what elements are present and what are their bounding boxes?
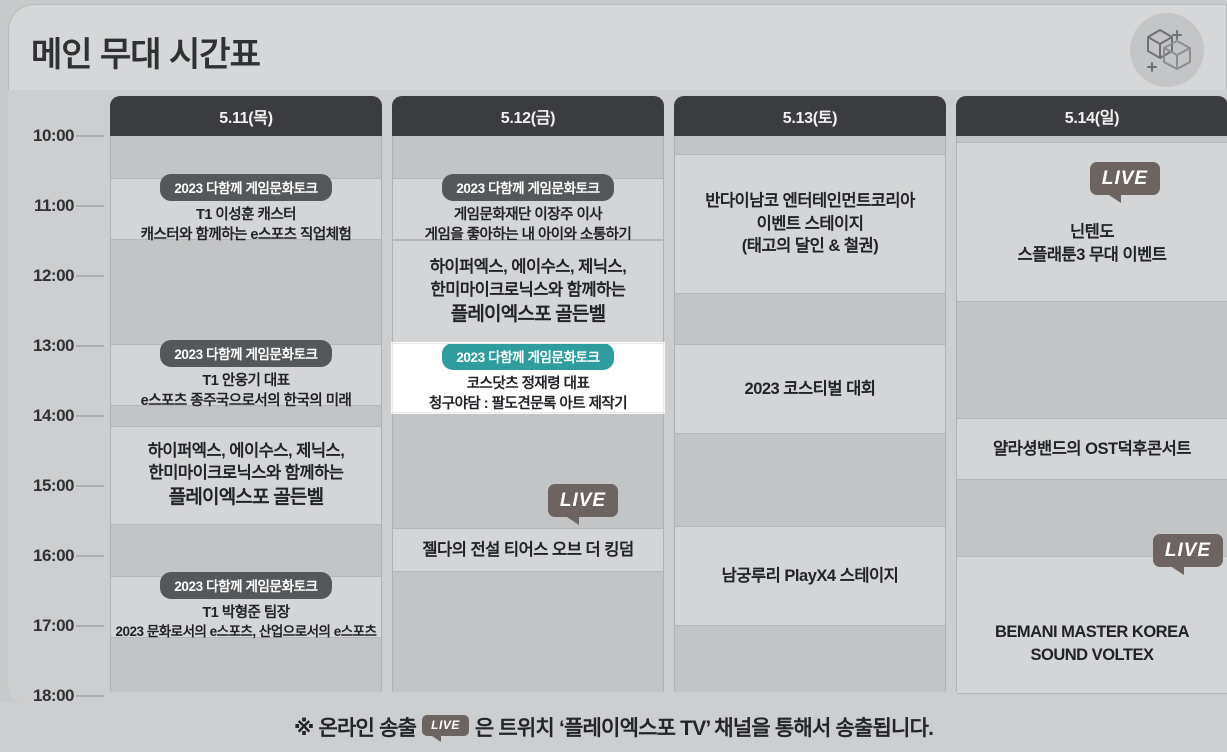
event-badge: 2023 다함께 게임문화토크 bbox=[160, 572, 331, 599]
day-column-1: 5.12(금) 2023 다함께 게임문화토크 게임문화재단 이장주 이사 게임… bbox=[392, 90, 664, 702]
title-card: 메인 무대 시간표 bbox=[8, 4, 1227, 90]
day-column-2: 5.13(토) 반다이남코 엔터테인먼트코리아 이벤트 스테이지 (태고의 달인… bbox=[674, 90, 946, 702]
event-line: 2023 코스티벌 대회 bbox=[745, 378, 876, 401]
day-column-0: 5.11(목) 2023 다함께 게임문화토크 T1 이성훈 캐스터 캐스터와 … bbox=[110, 90, 382, 702]
event-badge: 2023 다함께 게임문화토크 bbox=[442, 343, 613, 370]
time-label: 16:00 bbox=[33, 546, 74, 566]
event-line: 닌텐도 bbox=[1070, 221, 1114, 244]
event-line: 게임문화재단 이장주 이사 bbox=[454, 205, 602, 225]
event-block[interactable]: 2023 다함께 게임문화토크 게임문화재단 이장주 이사 게임을 좋아하는 내… bbox=[393, 178, 663, 240]
live-badge-label: LIVE bbox=[1153, 534, 1223, 567]
time-tick bbox=[76, 486, 104, 487]
time-label: 17:00 bbox=[33, 616, 74, 636]
schedule-page: 메인 무대 시간표 10:00 bbox=[0, 0, 1227, 752]
event-line: (태고의 달인 & 철권) bbox=[742, 235, 878, 258]
event-line: T1 안웅기 대표 bbox=[202, 371, 289, 391]
live-badge: LIVE bbox=[1090, 162, 1160, 202]
time-label: 13:00 bbox=[33, 336, 74, 356]
day-header-3[interactable]: 5.14(일) bbox=[956, 96, 1227, 136]
day-header-0[interactable]: 5.11(목) bbox=[110, 96, 382, 136]
time-tick bbox=[76, 206, 104, 207]
schedule-grid: 10:00 11:00 12:00 13:00 14:00 15:00 16:0… bbox=[8, 90, 1227, 702]
event-block[interactable]: 남궁루리 PlayX4 스테이지 bbox=[675, 526, 945, 626]
event-block[interactable]: 2023 다함께 게임문화토크 T1 이성훈 캐스터 캐스터와 함께하는 e스포… bbox=[111, 178, 381, 240]
event-line: 2023 문화로서의 e스포츠, 산업으로서의 e스포츠 bbox=[116, 623, 377, 642]
page-title: 메인 무대 시간표 bbox=[31, 27, 260, 76]
time-tick bbox=[76, 136, 104, 137]
event-line: T1 박형준 팀장 bbox=[202, 603, 289, 623]
time-tick bbox=[76, 346, 104, 347]
day-body-0: 2023 다함께 게임문화토크 T1 이성훈 캐스터 캐스터와 함께하는 e스포… bbox=[110, 136, 382, 692]
event-line: 젤다의 전설 티어스 오브 더 킹덤 bbox=[422, 539, 633, 562]
event-block[interactable]: 반다이남코 엔터테인먼트코리아 이벤트 스테이지 (태고의 달인 & 철권) bbox=[675, 154, 945, 294]
time-tick bbox=[76, 276, 104, 277]
event-line: 얄라셩밴드의 OST덕후콘서트 bbox=[993, 438, 1191, 461]
live-badge-label: LIVE bbox=[548, 484, 618, 517]
event-block[interactable]: 얄라셩밴드의 OST덕후콘서트 bbox=[957, 418, 1227, 480]
time-label: 12:00 bbox=[33, 266, 74, 286]
event-line: 플레이엑스포 골든벨 bbox=[451, 302, 606, 328]
time-label: 14:00 bbox=[33, 406, 74, 426]
live-badge: LIVE bbox=[548, 484, 618, 524]
time-tick bbox=[76, 626, 104, 627]
event-badge: 2023 다함께 게임문화토크 bbox=[442, 174, 613, 201]
event-line: 플레이엑스포 골든벨 bbox=[169, 485, 324, 511]
event-line: 이벤트 스테이지 bbox=[757, 213, 864, 236]
event-line: SOUND VOLTEX bbox=[1031, 644, 1154, 667]
event-line: 청구야담 : 팔도견문록 아트 제작기 bbox=[429, 394, 627, 414]
time-label: 15:00 bbox=[33, 476, 74, 496]
event-block[interactable]: 2023 코스티벌 대회 bbox=[675, 344, 945, 434]
event-badge: 2023 다함께 게임문화토크 bbox=[160, 174, 331, 201]
time-tick bbox=[76, 696, 104, 697]
day-body-2: 반다이남코 엔터테인먼트코리아 이벤트 스테이지 (태고의 달인 & 철권) 2… bbox=[674, 136, 946, 692]
footer-note: ※ 온라인 송출 LIVE 은 트위치 ‘플레이엑스포 TV’ 채널을 통해서 … bbox=[0, 702, 1227, 752]
day-header-1[interactable]: 5.12(금) bbox=[392, 96, 664, 136]
live-badge-tail bbox=[557, 515, 579, 525]
event-block-highlighted[interactable]: 2023 다함께 게임문화토크 코스닷츠 정재령 대표 청구야담 : 팔도견문록… bbox=[393, 344, 663, 412]
event-block[interactable]: 2023 다함께 게임문화토크 T1 박형준 팀장 2023 문화로서의 e스포… bbox=[111, 576, 381, 638]
footer-prefix: ※ 온라인 송출 bbox=[294, 712, 416, 742]
time-label: 11:00 bbox=[34, 196, 74, 216]
footer-suffix: 은 트위치 ‘플레이엑스포 TV’ 채널을 통해서 송출됩니다. bbox=[475, 712, 933, 742]
time-tick bbox=[76, 556, 104, 557]
event-line: 한미마이크로닉스와 함께하는 bbox=[149, 462, 344, 485]
time-label: 10:00 bbox=[33, 126, 74, 146]
event-line: e스포츠 종주국으로서의 한국의 미래 bbox=[141, 391, 352, 411]
day-body-3: 닌텐도 스플래툰3 무대 이벤트 LIVE 얄라셩밴드의 OST덕후콘서트 BE… bbox=[956, 136, 1227, 692]
event-block[interactable]: 하이퍼엑스, 에이수스, 제닉스, 한미마이크로닉스와 함께하는 플레이엑스포 … bbox=[111, 426, 381, 525]
live-badge-tail bbox=[1162, 565, 1184, 575]
event-line: T1 이성훈 캐스터 bbox=[196, 205, 296, 225]
event-line: BEMANI MASTER KOREA bbox=[995, 621, 1189, 644]
event-badge: 2023 다함께 게임문화토크 bbox=[160, 340, 331, 367]
day-body-1: 2023 다함께 게임문화토크 게임문화재단 이장주 이사 게임을 좋아하는 내… bbox=[392, 136, 664, 692]
event-line: 반다이남코 엔터테인먼트코리아 bbox=[705, 190, 915, 213]
footer-text: ※ 온라인 송출 LIVE 은 트위치 ‘플레이엑스포 TV’ 채널을 통해서 … bbox=[294, 712, 933, 742]
time-tick bbox=[76, 416, 104, 417]
event-line: 하이퍼엑스, 에이수스, 제닉스, bbox=[148, 440, 345, 463]
day-columns: 5.11(목) 2023 다함께 게임문화토크 T1 이성훈 캐스터 캐스터와 … bbox=[108, 90, 1225, 702]
cubes-icon bbox=[1130, 13, 1204, 87]
event-line: 하이퍼엑스, 에이수스, 제닉스, bbox=[430, 256, 627, 279]
event-line: 스플래툰3 무대 이벤트 bbox=[1018, 244, 1167, 267]
event-block[interactable]: BEMANI MASTER KOREA SOUND VOLTEX bbox=[957, 556, 1227, 694]
event-line: 코스닷츠 정재령 대표 bbox=[467, 374, 590, 394]
event-line: 한미마이크로닉스와 함께하는 bbox=[431, 279, 626, 302]
live-badge-label: LIVE bbox=[1090, 162, 1160, 195]
live-badge-tail bbox=[1099, 193, 1121, 203]
live-badge: LIVE bbox=[1153, 534, 1223, 574]
day-header-2[interactable]: 5.13(토) bbox=[674, 96, 946, 136]
footer-live-badge: LIVE bbox=[422, 715, 469, 736]
time-axis: 10:00 11:00 12:00 13:00 14:00 15:00 16:0… bbox=[8, 90, 108, 702]
event-block[interactable]: 젤다의 전설 티어스 오브 더 킹덤 bbox=[393, 528, 663, 572]
day-column-3: 5.14(일) 닌텐도 스플래툰3 무대 이벤트 LIVE 얄라셩밴드의 OST… bbox=[956, 90, 1227, 702]
event-block[interactable]: 하이퍼엑스, 에이수스, 제닉스, 한미마이크로닉스와 함께하는 플레이엑스포 … bbox=[393, 240, 663, 344]
event-line: 캐스터와 함께하는 e스포츠 직업체험 bbox=[141, 225, 352, 245]
event-line: 남궁루리 PlayX4 스테이지 bbox=[722, 565, 899, 588]
event-block[interactable]: 2023 다함께 게임문화토크 T1 안웅기 대표 e스포츠 종주국으로서의 한… bbox=[111, 344, 381, 406]
